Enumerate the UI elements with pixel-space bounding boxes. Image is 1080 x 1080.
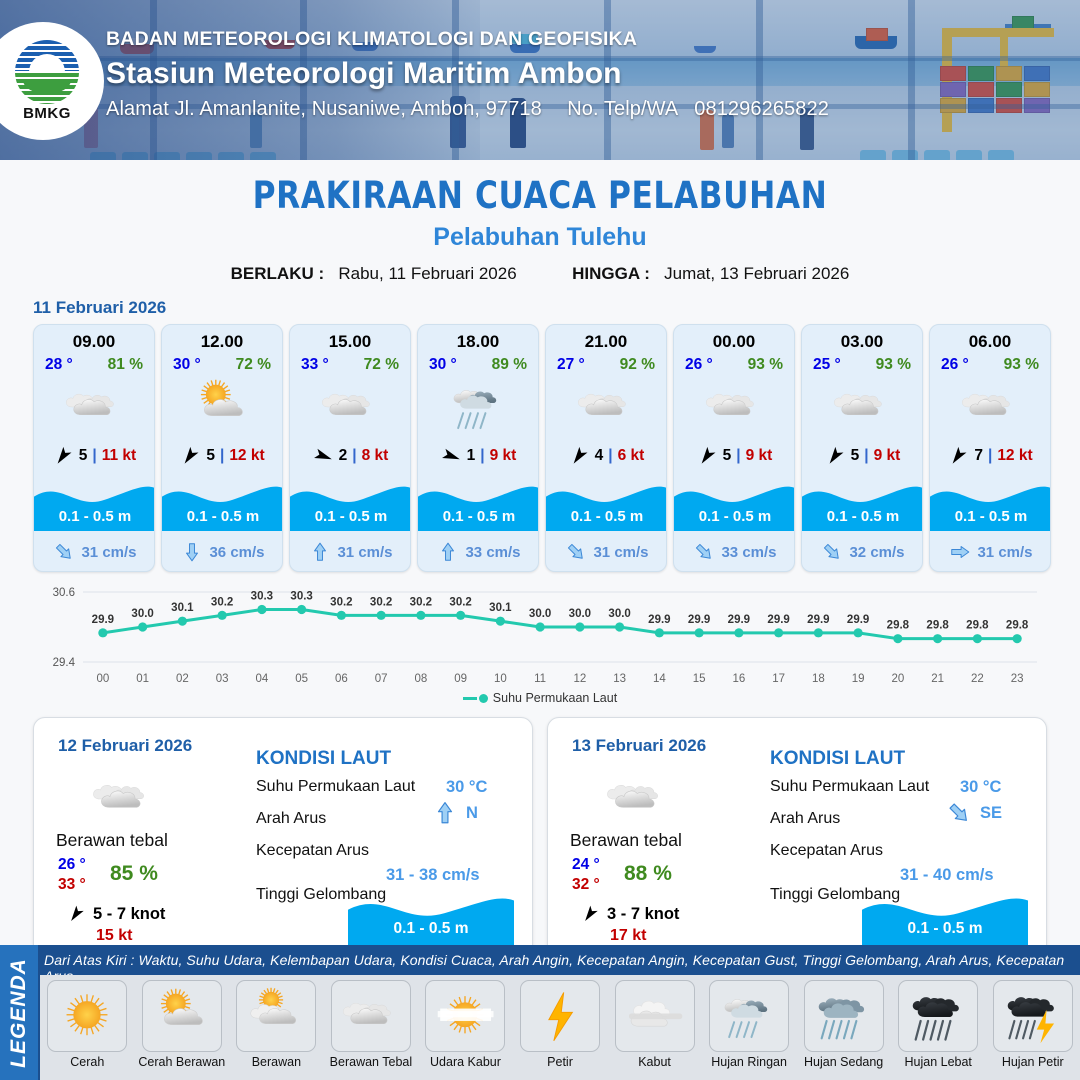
svg-text:29.9: 29.9 (767, 614, 789, 626)
current-speed-label: Kecepatan Arus (256, 842, 369, 860)
berawan-icon (236, 980, 316, 1052)
gust-value: 11 kt (102, 447, 136, 465)
panel-temp-max: 33 ° (58, 876, 86, 894)
card-temperature: 25 ° (813, 356, 841, 374)
page-title: PRAKIRAAN CUACA PELABUHAN (32, 174, 1047, 217)
panel-wind-range: 5 - 7 knot (93, 905, 165, 924)
valid-to-value: Jumat, 13 Februari 2026 (664, 264, 849, 283)
current-direction-icon (693, 541, 715, 563)
legend-line-icon (463, 697, 477, 700)
svg-text:30.2: 30.2 (330, 596, 352, 608)
panel-temp-min: 26 ° (58, 856, 86, 874)
current-speed: 33 cm/s (721, 544, 776, 561)
wave-height: 0.1 - 0.5 m (546, 508, 667, 525)
station-contact: Alamat Jl. Amanlanite, Nusaniwe, Ambon, … (106, 98, 829, 121)
wind-direction-icon (52, 445, 74, 467)
forecast-card[interactable]: 00.00 26 ° 93 % 5 | 9 kt 0.1 - 0.5 m (673, 324, 795, 572)
card-humidity: 93 % (876, 356, 911, 374)
panel-wind-range: 3 - 7 knot (607, 905, 679, 924)
card-humidity: 93 % (1004, 356, 1039, 374)
sst-label: Suhu Permukaan Laut (256, 778, 415, 796)
panel-gust: 15 kt (96, 927, 132, 945)
hujan-sedang-icon (804, 980, 884, 1052)
svg-text:30.2: 30.2 (370, 596, 392, 608)
legend-item: Hujan Sedang (798, 980, 889, 1080)
station-address: Alamat Jl. Amanlanite, Nusaniwe, Ambon, … (106, 98, 542, 120)
page-header: BMKG BADAN METEOROLOGI KLIMATOLOGI DAN G… (0, 0, 1080, 160)
card-temperature: 30 ° (173, 356, 201, 374)
card-time: 15.00 (290, 332, 410, 352)
current-dir-label: Arah Arus (770, 810, 840, 828)
card-time: 18.00 (418, 332, 538, 352)
card-current: 31 cm/s (546, 541, 667, 563)
wave-height: 0.1 - 0.5 m (290, 508, 411, 525)
wave-graphic (348, 890, 514, 948)
valid-from-value: Rabu, 11 Februari 2026 (338, 264, 516, 283)
legend-item: Berawan (231, 980, 322, 1080)
validity-row: BERLAKU : Rabu, 11 Februari 2026 HINGGA … (0, 264, 1080, 284)
berawan-tebal-icon (34, 376, 154, 438)
berawan-tebal-icon (802, 376, 922, 438)
wind-direction-icon (824, 445, 846, 467)
panel-date: 12 Februari 2026 (58, 736, 192, 756)
sst-value: 30 °C (960, 778, 1001, 797)
wind-direction-icon (440, 445, 462, 467)
svg-text:30.0: 30.0 (569, 608, 591, 620)
wind-direction-icon (179, 445, 201, 467)
card-current: 33 cm/s (418, 541, 539, 563)
legend-item: Berawan Tebal (326, 980, 417, 1080)
legend-item-label: Berawan (252, 1055, 301, 1069)
legend-item-label: Berawan Tebal (330, 1055, 412, 1069)
card-humidity: 92 % (620, 356, 655, 374)
forecast-card[interactable]: 15.00 33 ° 72 % 2 | 8 kt 0.1 - 0.5 m (289, 324, 411, 572)
svg-text:30.2: 30.2 (211, 596, 233, 608)
forecast-card[interactable]: 09.00 28 ° 81 % 5 | 11 kt 0.1 - 0.5 m (33, 324, 155, 572)
svg-text:29.8: 29.8 (887, 620, 910, 632)
panel-date: 13 Februari 2026 (572, 736, 706, 756)
svg-text:07: 07 (375, 673, 388, 685)
wind-direction-icon (312, 445, 334, 467)
card-wind: 7 | 12 kt (930, 445, 1050, 467)
legend-icon-row: Cerah Cerah Berawan Berawan (40, 975, 1080, 1080)
title-block: PRAKIRAAN CUACA PELABUHAN Pelabuhan Tule… (0, 174, 1080, 284)
berawan-tebal-icon (930, 376, 1050, 438)
wave-height: 0.1 - 0.5 m (418, 508, 539, 525)
svg-text:00: 00 (96, 673, 109, 685)
petir-icon (520, 980, 600, 1052)
svg-text:23: 23 (1011, 673, 1024, 685)
card-wind: 5 | 9 kt (674, 445, 794, 467)
card-current: 33 cm/s (674, 541, 795, 563)
svg-text:29.9: 29.9 (648, 614, 670, 626)
current-dir-value-group: SE (946, 800, 1002, 826)
svg-text:20: 20 (891, 673, 904, 685)
bmkg-logo-text: BMKG (23, 105, 71, 122)
wind-speed-value: 5 (851, 447, 860, 465)
current-speed: 31 cm/s (977, 544, 1032, 561)
card-current: 31 cm/s (930, 541, 1051, 563)
gust-value: 8 kt (362, 447, 389, 465)
legend-item-label: Hujan Sedang (804, 1055, 883, 1069)
current-speed: 36 cm/s (209, 544, 264, 561)
cerah-berawan-icon (162, 376, 282, 438)
current-direction-icon (432, 800, 458, 826)
hujan-ringan-icon (709, 980, 789, 1052)
current-dir-value: SE (980, 804, 1002, 823)
wind-direction-icon (568, 445, 590, 467)
svg-text:11: 11 (534, 673, 546, 685)
legend-item-label: Cerah (70, 1055, 104, 1069)
sst-label: Suhu Permukaan Laut (770, 778, 929, 796)
current-dir-value: N (466, 804, 478, 823)
wind-separator: | (480, 447, 484, 465)
phone-label: No. Telp/WA (567, 98, 677, 120)
panel-temp-min: 24 ° (572, 856, 600, 874)
svg-text:29.8: 29.8 (926, 620, 949, 632)
svg-text:15: 15 (693, 673, 706, 685)
card-humidity: 93 % (748, 356, 783, 374)
current-direction-icon (565, 541, 587, 563)
forecast-date-label: 11 Februari 2026 (33, 298, 1080, 318)
berawan-tebal-icon (90, 766, 156, 837)
forecast-card[interactable]: 03.00 25 ° 93 % 5 | 9 kt 0.1 - 0.5 m (801, 324, 923, 572)
svg-text:29.9: 29.9 (847, 614, 869, 626)
card-current: 31 cm/s (290, 541, 411, 563)
wave-height: 0.1 - 0.5 m (34, 508, 155, 525)
wind-speed-value: 5 (723, 447, 732, 465)
berawan-tebal-icon (546, 376, 666, 438)
svg-text:29.9: 29.9 (92, 614, 114, 626)
svg-text:03: 03 (216, 673, 229, 685)
legend-item: Petir (515, 980, 606, 1080)
wind-speed-value: 4 (595, 447, 604, 465)
panel-humidity: 88 % (624, 862, 672, 886)
daily-forecast-panels: 12 Februari 2026 Berawan tebal 26 ° 33 °… (33, 717, 1080, 965)
wind-separator: | (92, 447, 96, 465)
wind-separator: | (352, 447, 356, 465)
current-direction-icon (309, 541, 331, 563)
panel-temp-max: 32 ° (572, 876, 600, 894)
svg-text:29.8: 29.8 (1006, 620, 1029, 632)
svg-text:13: 13 (613, 673, 626, 685)
svg-text:30.0: 30.0 (529, 608, 551, 620)
wave-height: 0.1 - 0.5 m (674, 508, 795, 525)
svg-text:09: 09 (454, 673, 467, 685)
card-current: 31 cm/s (34, 541, 155, 563)
sst-value: 30 °C (446, 778, 487, 797)
forecast-card[interactable]: 12.00 30 ° 72 % 5 | 12 kt 0.1 - 0.5 m (161, 324, 283, 572)
svg-text:01: 01 (136, 673, 149, 685)
wind-separator: | (220, 447, 224, 465)
cerah-berawan-icon (142, 980, 222, 1052)
berawan-tebal-icon (290, 376, 410, 438)
legend-item-label: Kabut (638, 1055, 671, 1069)
hujan-ringan-icon (418, 376, 538, 438)
chart-legend-label: Suhu Permukaan Laut (493, 691, 617, 705)
card-temperature: 27 ° (557, 356, 585, 374)
card-wind: 1 | 9 kt (418, 445, 538, 467)
card-wind: 5 | 9 kt (802, 445, 922, 467)
legend-item: Hujan Petir (987, 980, 1078, 1080)
svg-text:02: 02 (176, 673, 189, 685)
card-current: 32 cm/s (802, 541, 923, 563)
wave-graphic (862, 890, 1028, 948)
card-temperature: 33 ° (301, 356, 329, 374)
bmkg-emblem-icon (15, 40, 79, 104)
forecast-card-row: 09.00 28 ° 81 % 5 | 11 kt 0.1 - 0.5 m (33, 324, 1080, 572)
legend-item: Hujan Lebat (893, 980, 984, 1080)
wind-speed-value: 1 (467, 447, 476, 465)
legend-item-label: Udara Kabur (430, 1055, 501, 1069)
svg-text:12: 12 (573, 673, 586, 685)
svg-text:30.3: 30.3 (290, 591, 312, 603)
sea-conditions-title: KONDISI LAUT (256, 748, 391, 770)
legend-section: LEGENDA Dari Atas Kiri : Waktu, Suhu Uda… (0, 945, 1080, 1080)
wind-speed-value: 2 (339, 447, 348, 465)
card-temperature: 28 ° (45, 356, 73, 374)
cerah-icon (47, 980, 127, 1052)
legend-item-label: Cerah Berawan (138, 1055, 225, 1069)
card-wind: 4 | 6 kt (546, 445, 666, 467)
current-speed-value: 31 - 40 cm/s (900, 866, 994, 885)
current-direction-icon (949, 541, 971, 563)
phone-number: 081296265822 (694, 98, 829, 120)
kabut-icon (615, 980, 695, 1052)
valid-from-label: BERLAKU : (231, 264, 325, 283)
legend-item: Cerah (42, 980, 133, 1080)
svg-text:29.9: 29.9 (728, 614, 750, 626)
wind-separator: | (988, 447, 992, 465)
card-time: 12.00 (162, 332, 282, 352)
valid-to-label: HINGGA : (572, 264, 650, 283)
svg-text:30.0: 30.0 (131, 608, 153, 620)
svg-text:30.0: 30.0 (608, 608, 630, 620)
wind-separator: | (608, 447, 612, 465)
wind-speed-value: 5 (79, 447, 88, 465)
current-direction-icon (437, 541, 459, 563)
wind-separator: | (864, 447, 868, 465)
svg-text:16: 16 (732, 673, 745, 685)
wind-direction-icon (66, 904, 86, 924)
svg-text:29.8: 29.8 (966, 620, 989, 632)
sea-conditions-title: KONDISI LAUT (770, 748, 905, 770)
chart-legend: Suhu Permukaan Laut (0, 691, 1080, 705)
gust-value: 9 kt (874, 447, 901, 465)
station-name: Stasiun Meteorologi Maritim Ambon (106, 57, 829, 91)
wind-speed-value: 5 (206, 447, 215, 465)
card-humidity: 81 % (108, 356, 143, 374)
current-speed: 31 cm/s (81, 544, 136, 561)
hujan-petir-icon (993, 980, 1073, 1052)
current-dir-label: Arah Arus (256, 810, 326, 828)
card-wind: 5 | 11 kt (34, 445, 154, 467)
gust-value: 9 kt (490, 447, 517, 465)
svg-text:30.3: 30.3 (251, 591, 273, 603)
svg-text:08: 08 (414, 673, 427, 685)
wave-height: 0.1 - 0.5 m (802, 508, 923, 525)
agency-name: BADAN METEOROLOGI KLIMATOLOGI DAN GEOFIS… (106, 28, 829, 51)
current-speed: 32 cm/s (849, 544, 904, 561)
card-temperature: 26 ° (685, 356, 713, 374)
svg-text:21: 21 (931, 673, 944, 685)
berawan-tebal-icon (604, 766, 670, 837)
panel-humidity: 85 % (110, 862, 158, 886)
panel-gust: 17 kt (610, 927, 646, 945)
card-time: 06.00 (930, 332, 1050, 352)
panel-wind: 3 - 7 knot (580, 904, 679, 924)
svg-text:04: 04 (255, 673, 268, 685)
legend-item: Cerah Berawan (137, 980, 228, 1080)
panel-condition: Berawan tebal (56, 830, 168, 851)
svg-text:06: 06 (335, 673, 348, 685)
daily-panel: 12 Februari 2026 Berawan tebal 26 ° 33 °… (33, 717, 533, 965)
current-direction-icon (946, 800, 972, 826)
current-direction-icon (53, 541, 75, 563)
legend-item-label: Hujan Petir (1002, 1055, 1064, 1069)
forecast-card[interactable]: 21.00 27 ° 92 % 4 | 6 kt 0.1 - 0.5 m (545, 324, 667, 572)
svg-text:22: 22 (971, 673, 984, 685)
current-speed: 31 cm/s (593, 544, 648, 561)
wind-direction-icon (580, 904, 600, 924)
current-direction-icon (821, 541, 843, 563)
legend-title: LEGENDA (7, 958, 31, 1068)
svg-text:30.6: 30.6 (53, 587, 75, 599)
svg-text:14: 14 (653, 673, 666, 685)
legend-dot-icon (479, 694, 488, 703)
wind-speed-value: 7 (974, 447, 983, 465)
berawan-tebal-icon (674, 376, 794, 438)
legend-item: Hujan Ringan (704, 980, 795, 1080)
card-time: 09.00 (34, 332, 154, 352)
svg-text:17: 17 (772, 673, 785, 685)
svg-text:30.2: 30.2 (410, 596, 432, 608)
card-humidity: 89 % (492, 356, 527, 374)
svg-text:10: 10 (494, 673, 507, 685)
current-speed-label: Kecepatan Arus (770, 842, 883, 860)
svg-text:05: 05 (295, 673, 308, 685)
current-speed: 33 cm/s (465, 544, 520, 561)
forecast-card[interactable]: 18.00 30 ° 89 % 1 | 9 kt 0.1 - 0.5 m (417, 324, 539, 572)
port-name: Pelabuhan Tulehu (0, 223, 1080, 252)
card-time: 21.00 (546, 332, 666, 352)
forecast-card[interactable]: 06.00 26 ° 93 % 7 | 12 kt 0.1 - 0.5 m (929, 324, 1051, 572)
legend-item-label: Hujan Lebat (904, 1055, 971, 1069)
svg-text:30.1: 30.1 (489, 602, 512, 614)
wave-height: 0.1 - 0.5 m (930, 508, 1051, 525)
card-current: 36 cm/s (162, 541, 283, 563)
current-speed-value: 31 - 38 cm/s (386, 866, 480, 885)
gust-value: 12 kt (997, 447, 1032, 465)
current-direction-icon (181, 541, 203, 563)
current-speed: 31 cm/s (337, 544, 392, 561)
svg-text:29.9: 29.9 (807, 614, 829, 626)
svg-text:29.9: 29.9 (688, 614, 710, 626)
current-dir-value-group: N (432, 800, 478, 826)
card-time: 00.00 (674, 332, 794, 352)
panel-condition: Berawan tebal (570, 830, 682, 851)
svg-text:29.4: 29.4 (53, 657, 76, 669)
legend-item: Kabut (609, 980, 700, 1080)
panel-wave-value: 0.1 - 0.5 m (862, 920, 1028, 938)
gust-value: 6 kt (618, 447, 645, 465)
panel-wave-graphic (862, 890, 1028, 948)
svg-text:30.2: 30.2 (449, 596, 471, 608)
wind-direction-icon (947, 445, 969, 467)
panel-wave-value: 0.1 - 0.5 m (348, 920, 514, 938)
sst-chart-svg: 30.629.429.90030.00130.10230.20330.30430… (33, 582, 1047, 688)
legend-sidebar: LEGENDA (0, 945, 38, 1080)
svg-text:30.1: 30.1 (171, 602, 194, 614)
gust-value: 9 kt (746, 447, 773, 465)
panel-wave-graphic (348, 890, 514, 948)
legend-item-label: Hujan Ringan (711, 1055, 787, 1069)
card-wind: 2 | 8 kt (290, 445, 410, 467)
wind-separator: | (736, 447, 740, 465)
daily-panel: 13 Februari 2026 Berawan tebal 24 ° 32 °… (547, 717, 1047, 965)
hujan-lebat-icon (898, 980, 978, 1052)
berawan-tebal-icon (331, 980, 411, 1052)
svg-text:18: 18 (812, 673, 825, 685)
legend-item-label: Petir (547, 1055, 573, 1069)
udara-kabur-icon (425, 980, 505, 1052)
svg-text:19: 19 (852, 673, 865, 685)
legend-item: Udara Kabur (420, 980, 511, 1080)
wind-direction-icon (696, 445, 718, 467)
sst-chart: 30.629.429.90030.00130.10230.20330.30430… (33, 582, 1047, 688)
panel-wind: 5 - 7 knot (66, 904, 165, 924)
card-temperature: 30 ° (429, 356, 457, 374)
wave-height: 0.1 - 0.5 m (162, 508, 283, 525)
card-time: 03.00 (802, 332, 922, 352)
gust-value: 12 kt (229, 447, 264, 465)
card-humidity: 72 % (364, 356, 399, 374)
card-wind: 5 | 12 kt (162, 445, 282, 467)
card-temperature: 26 ° (941, 356, 969, 374)
card-humidity: 72 % (236, 356, 271, 374)
